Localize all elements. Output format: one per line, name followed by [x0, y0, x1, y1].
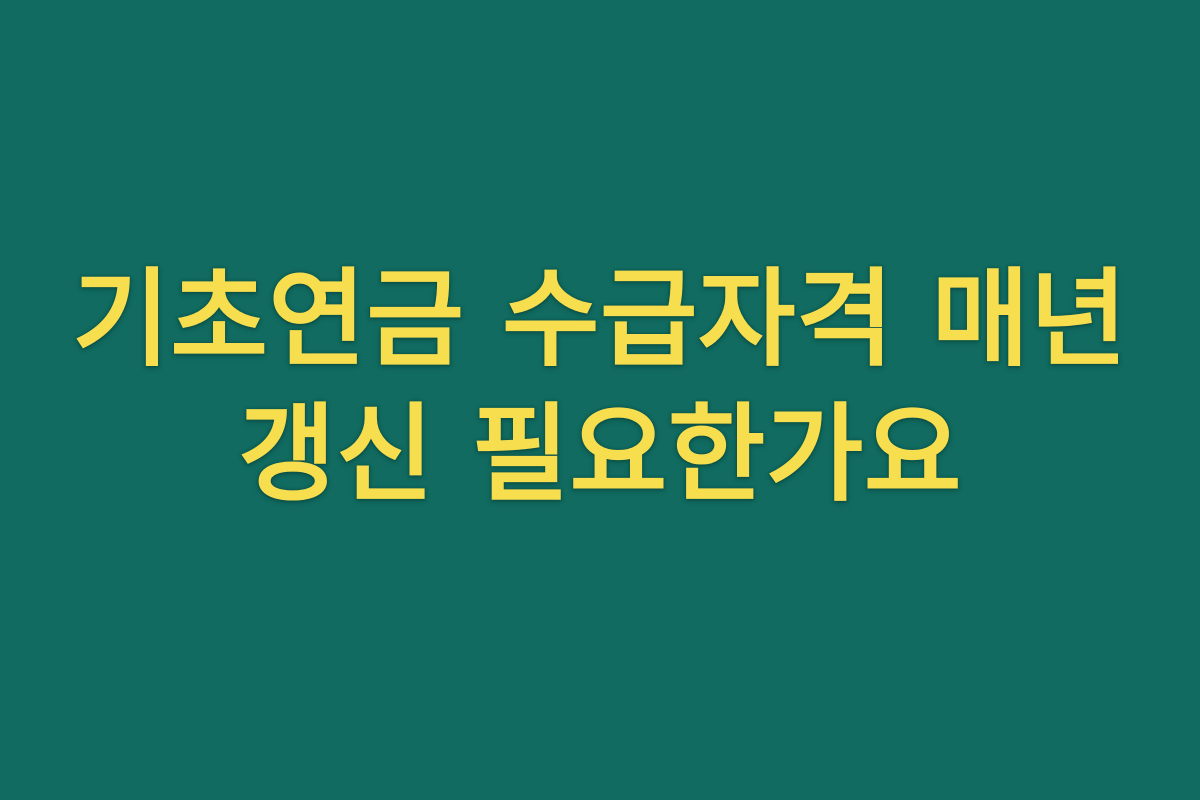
- headline-block: 기초연금 수급자격 매년 갱신 필요한가요: [40, 252, 1160, 522]
- thumbnail-canvas: 기초연금 수급자격 매년 갱신 필요한가요: [0, 0, 1200, 800]
- headline-line-2: 갱신 필요한가요: [40, 387, 1160, 522]
- headline-line-1: 기초연금 수급자격 매년: [40, 252, 1160, 387]
